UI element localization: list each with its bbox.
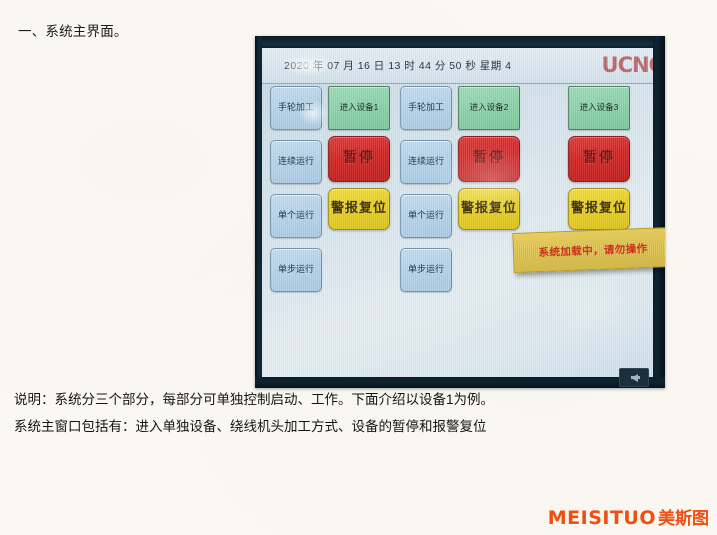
monitor-bezel-left: [255, 36, 262, 388]
mode-button-handwheel-1[interactable]: 手轮加工: [270, 86, 322, 130]
mode-button-single-1[interactable]: 单个运行: [270, 194, 322, 238]
description-line-1: 说明：系统分三个部分，每部分可单独控制启动、工作。下面介绍以设备1为例。: [14, 388, 494, 408]
alarm-reset-device-3-button[interactable]: 警报复位: [568, 188, 630, 230]
mode-button-continuous-1[interactable]: 连续运行: [270, 140, 322, 184]
mode-button-continuous-2[interactable]: 连续运行: [400, 140, 452, 184]
device-group-1: 手轮加工 连续运行 单个运行 单步运行 进入设备1 暂停 警报复位: [268, 84, 392, 377]
description-line-2: 系统主窗口包括有：进入单独设备、绕线机头加工方式、设备的暂停和报警复位: [14, 415, 487, 435]
pause-device-1-button[interactable]: 暂停: [328, 136, 390, 182]
back-button[interactable]: [619, 368, 649, 387]
loading-tooltip: 系统加载中，请勿操作: [512, 227, 665, 273]
lcd-screen: 2020 年 07 月 16 日 13 时 44 分 50 秒 星期 4 UCN…: [262, 48, 653, 377]
monitor-bezel-top: [255, 36, 665, 48]
alarm-reset-device-2-button[interactable]: 警报复位: [458, 188, 520, 230]
monitor-bezel-bottom: [255, 377, 665, 388]
device-group-2: 手轮加工 连续运行 单个运行 单步运行 进入设备2 暂停 警报复位: [398, 84, 522, 377]
loading-tooltip-text: 系统加载中，请勿操作: [538, 240, 647, 259]
enter-device-3-button[interactable]: 进入设备3: [568, 86, 630, 130]
mode-button-step-1[interactable]: 单步运行: [270, 248, 322, 292]
ucnc-logo: UCNC: [602, 53, 653, 77]
pause-device-3-button[interactable]: 暂停: [568, 136, 630, 182]
brand-logo: MEISITUO 美斯图: [548, 504, 709, 529]
brand-logo-latin: MEISITUO: [548, 507, 656, 529]
mode-button-single-2[interactable]: 单个运行: [400, 194, 452, 238]
pause-device-2-button[interactable]: 暂停: [458, 136, 520, 182]
page-title: 一、系统主界面。: [18, 20, 128, 40]
mode-button-handwheel-2[interactable]: 手轮加工: [400, 86, 452, 130]
alarm-reset-device-1-button[interactable]: 警报复位: [328, 188, 390, 230]
hmi-screen-photo: 2020 年 07 月 16 日 13 时 44 分 50 秒 星期 4 UCN…: [255, 36, 665, 388]
back-arrow-icon: [631, 374, 638, 382]
monitor-bezel-right: [653, 36, 665, 388]
clock-display: 2020 年 07 月 16 日 13 时 44 分 50 秒 星期 4: [284, 58, 512, 73]
enter-device-2-button[interactable]: 进入设备2: [458, 86, 520, 130]
hmi-title-bar: 2020 年 07 月 16 日 13 时 44 分 50 秒 星期 4 UCN…: [262, 48, 653, 84]
brand-logo-chinese: 美斯图: [658, 504, 709, 529]
enter-device-1-button[interactable]: 进入设备1: [328, 86, 390, 130]
mode-button-step-2[interactable]: 单步运行: [400, 248, 452, 292]
